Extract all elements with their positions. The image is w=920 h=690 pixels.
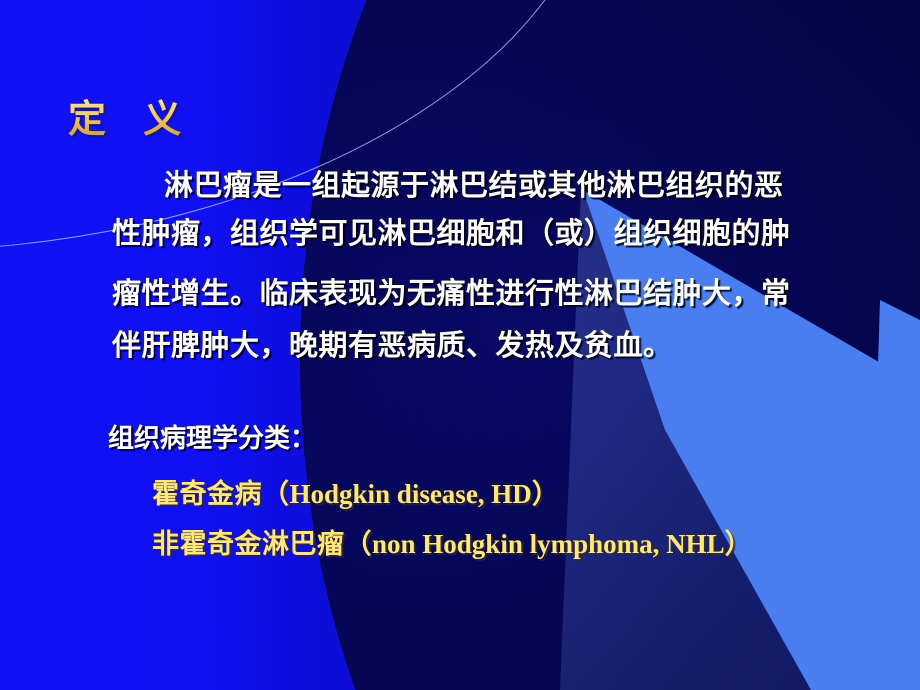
classification-cjk-prefix: 非霍奇金淋巴瘤（ <box>152 529 372 560</box>
body-paragraph-line: 淋巴瘤是一组起源于淋巴结或其他淋巴组织的恶 <box>164 162 784 204</box>
classification-item: 非霍奇金淋巴瘤（non Hodgkin lymphoma, NHL） <box>152 522 752 561</box>
classification-item: 霍奇金病（Hodgkin disease, HD） <box>152 472 559 511</box>
classification-cjk-suffix: ） <box>725 529 753 560</box>
page-title: 定 义 <box>68 88 193 143</box>
classification-latin-term: Hodgkin disease, HD <box>290 479 532 509</box>
slide-content: 定 义 淋巴瘤是一组起源于淋巴结或其他淋巴组织的恶 性肿瘤，组织学可见淋巴细胞和… <box>0 0 920 690</box>
presentation-slide: 定 义 淋巴瘤是一组起源于淋巴结或其他淋巴组织的恶 性肿瘤，组织学可见淋巴细胞和… <box>0 0 920 690</box>
section-heading: 组织病理学分类： <box>108 418 316 455</box>
body-paragraph-line: 性肿瘤，组织学可见淋巴细胞和（或）组织细胞的肿 <box>112 210 791 252</box>
body-paragraph-line: 伴肝脾肿大，晚期有恶病质、发热及贫血。 <box>112 322 673 364</box>
classification-cjk-prefix: 霍奇金病（ <box>152 479 290 510</box>
body-paragraph-line: 瘤性增生。临床表现为无痛性进行性淋巴结肿大，常 <box>112 270 791 312</box>
classification-latin-term: non Hodgkin lymphoma, NHL <box>372 529 725 559</box>
classification-cjk-suffix: ） <box>532 479 560 510</box>
